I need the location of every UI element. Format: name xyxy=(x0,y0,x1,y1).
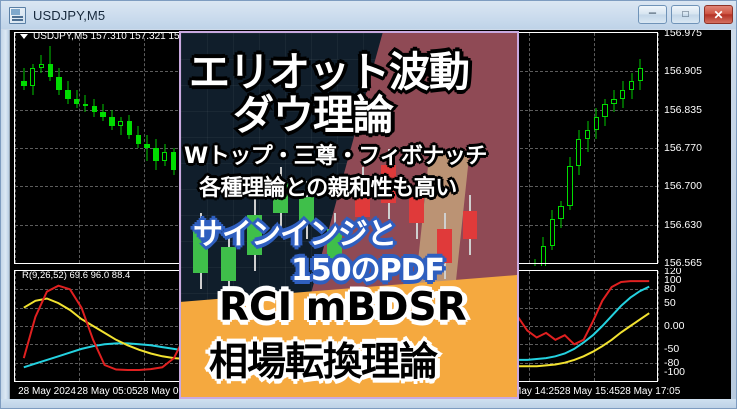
promo-subline-2: 各種理論との親和性も高い xyxy=(199,170,457,202)
chart-symbol-header[interactable]: USDJPY,M5 157.310 157.321 157. xyxy=(20,31,188,42)
candle-body xyxy=(56,77,61,90)
candlestick xyxy=(109,30,114,260)
candle-body xyxy=(585,130,590,139)
indicator-scale-label: 80 xyxy=(664,283,676,295)
chart-header-text: USDJPY,M5 157.310 157.321 157. xyxy=(33,31,188,42)
candlestick xyxy=(585,30,590,260)
candle-body xyxy=(83,104,88,106)
candlestick xyxy=(162,30,167,260)
candle-body xyxy=(602,104,607,117)
candlestick xyxy=(594,30,599,260)
candlestick xyxy=(171,30,176,260)
candlestick xyxy=(153,30,158,260)
candle-body xyxy=(541,246,546,266)
candle-body xyxy=(30,68,35,86)
gridline-vertical xyxy=(15,33,16,263)
candle-body xyxy=(629,81,634,90)
chevron-down-icon[interactable] xyxy=(20,34,28,39)
candle-body xyxy=(48,64,53,77)
candle-body xyxy=(558,206,563,219)
promo-overlay: エリオット波動 ダウ理論 Wトップ・三尊・フィボナッチ 各種理論との親和性も高い… xyxy=(179,31,519,399)
chart-window-icon xyxy=(9,7,26,24)
maximize-button[interactable]: □ xyxy=(671,5,700,24)
promo-subline-1: Wトップ・三尊・フィボナッチ xyxy=(184,138,487,170)
candle-wick xyxy=(534,259,535,266)
minimize-button[interactable]: – xyxy=(638,5,667,24)
candlestick xyxy=(83,30,88,260)
indicator-scale-label: -50 xyxy=(664,343,679,355)
price-scale-label: 156.770 xyxy=(664,142,702,154)
price-scale-label: 156.630 xyxy=(664,219,702,231)
candle-body xyxy=(100,112,105,116)
candlestick xyxy=(127,30,132,260)
candlestick xyxy=(56,30,61,260)
candle-body xyxy=(39,64,44,68)
close-icon: ✕ xyxy=(705,9,732,21)
candlestick xyxy=(21,30,26,260)
price-scale-label: 156.905 xyxy=(664,65,702,77)
window-title: USDJPY,M5 xyxy=(33,8,105,23)
indicator-scale-label: -100 xyxy=(664,366,685,378)
promo-candlestick xyxy=(463,195,477,255)
candlestick xyxy=(550,30,555,260)
candle-body xyxy=(109,117,114,126)
candlestick xyxy=(144,30,149,260)
price-scale-label: 156.700 xyxy=(664,180,702,192)
maximize-icon: □ xyxy=(672,10,699,20)
time-axis-label: 28 May 15:45 xyxy=(559,386,620,397)
time-axis-label: 28 May 2024 xyxy=(18,386,76,397)
title-bar: USDJPY,M5 – □ ✕ xyxy=(1,1,737,29)
indicator-scale-label: 0.00 xyxy=(664,320,684,332)
time-axis-label: 28 May 05:05 xyxy=(77,386,138,397)
candlestick xyxy=(629,30,634,260)
candle-body xyxy=(118,121,123,125)
candle-body xyxy=(153,148,158,161)
candle-wick xyxy=(23,68,24,90)
candle-body xyxy=(162,152,167,161)
promo-candle-body xyxy=(463,211,477,239)
candlestick xyxy=(39,30,44,260)
candle-body xyxy=(144,144,149,148)
candle-body xyxy=(127,121,132,134)
indicator-scale-label: 50 xyxy=(664,297,676,309)
candlestick xyxy=(576,30,581,260)
promo-footer-2: 相場転換理論 xyxy=(209,331,437,387)
candle-body xyxy=(171,152,176,170)
candlestick xyxy=(541,30,546,260)
candle-body xyxy=(576,139,581,166)
candlestick xyxy=(48,30,53,260)
candlestick xyxy=(532,30,537,260)
status-strip xyxy=(1,399,737,408)
candlestick xyxy=(30,30,35,260)
gridline-vertical xyxy=(529,33,530,263)
candle-body xyxy=(92,106,97,113)
candle-body xyxy=(638,68,643,81)
candlestick xyxy=(620,30,625,260)
candle-wick xyxy=(147,135,148,162)
candle-body xyxy=(74,99,79,103)
candlestick xyxy=(100,30,105,260)
gridline-vertical xyxy=(79,33,80,263)
mt4-chart-window: USDJPY,M5 – □ ✕ 156.975156.905156.835156… xyxy=(0,0,737,409)
candle-body xyxy=(594,117,599,130)
price-scale-label: 156.565 xyxy=(664,257,702,266)
promo-headline-2: ダウ理論 xyxy=(233,81,393,141)
candlestick xyxy=(136,30,141,260)
price-scale-label: 156.975 xyxy=(664,30,702,39)
price-scale-label: 156.835 xyxy=(664,104,702,116)
candle-body xyxy=(65,90,70,99)
candle-body xyxy=(611,99,616,103)
window-controls: – □ ✕ xyxy=(638,5,733,24)
candlestick xyxy=(611,30,616,260)
promo-footer-1: RCI mBDSR xyxy=(219,285,467,330)
promo-feature-2: 150のPDF xyxy=(291,245,444,289)
candlestick xyxy=(92,30,97,260)
candlestick xyxy=(567,30,572,260)
candle-body xyxy=(567,166,572,206)
candlestick xyxy=(523,30,528,260)
price-scale: 156.975156.905156.835156.770156.700156.6… xyxy=(658,30,731,266)
indicator-scale: 12010080500.00-50-80-100 xyxy=(658,268,731,384)
time-axis-label: 28 May 17:05 xyxy=(620,386,681,397)
candlestick xyxy=(118,30,123,260)
indicator-label: R(9,26,52) 69.6 96.0 88.4 xyxy=(22,270,130,281)
candle-body xyxy=(136,135,141,144)
candlestick xyxy=(74,30,79,260)
candle-body xyxy=(21,81,26,85)
window-left-edge xyxy=(1,30,9,400)
minimize-icon: – xyxy=(639,5,666,18)
candlestick xyxy=(638,30,643,260)
candle-body xyxy=(550,219,555,246)
candle-body xyxy=(620,90,625,99)
close-button[interactable]: ✕ xyxy=(704,5,733,24)
candlestick xyxy=(558,30,563,260)
candlestick xyxy=(65,30,70,260)
candlestick xyxy=(602,30,607,260)
